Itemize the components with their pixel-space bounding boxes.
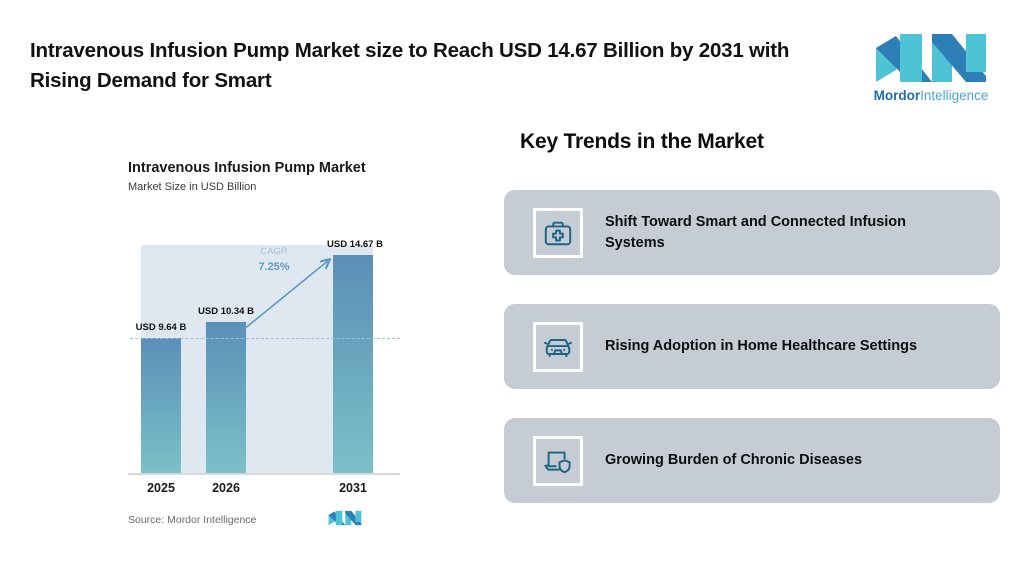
bar-label-2025: USD 9.64 B [121,322,201,333]
cagr-value: 7.25% [248,261,300,273]
bar-label-2031: USD 14.67 B [313,239,397,250]
medical-kit-icon [543,218,573,248]
chart-source: Source: Mordor Intelligence [128,514,256,526]
x-tick-2031: 2031 [323,481,383,495]
trend-card-label: Growing Burden of Chronic Diseases [605,450,862,471]
laptop-shield-icon [543,446,573,476]
trend-card[interactable]: Shift Toward Smart and Connected Infusio… [504,190,1000,275]
cagr-label: CAGR [248,246,300,257]
page-header: Intravenous Infusion Pump Market size to… [0,0,1024,122]
chart-plot-area: CAGR 7.25% USD 9.64 B USD 10.34 B USD 14… [110,150,410,550]
market-size-chart: Intravenous Infusion Pump Market Market … [110,150,410,550]
trend-card-label: Rising Adoption in Home Healthcare Setti… [605,336,917,357]
logo-name-bold: Mordor [874,88,921,103]
trend-card[interactable]: Growing Burden of Chronic Diseases [504,418,1000,503]
trend-card-label: Shift Toward Smart and Connected Infusio… [605,212,965,254]
trend-icon-box [533,322,583,372]
source-mordor-mark-icon [328,508,362,528]
trend-card[interactable]: Rising Adoption in Home Healthcare Setti… [504,304,1000,389]
x-tick-2025: 2025 [131,481,191,495]
mordor-logo-text: MordorIntelligence [866,88,996,103]
trend-icon-box [533,436,583,486]
page-title: Intravenous Infusion Pump Market size to… [30,36,840,96]
x-tick-2026: 2026 [196,481,256,495]
key-trends-title: Key Trends in the Market [520,130,764,154]
chart-x-axis [128,473,400,475]
bar-label-2026: USD 10.34 B [184,306,268,317]
trend-icon-box [533,208,583,258]
car-front-icon [543,332,573,362]
trend-card-list: Shift Toward Smart and Connected Infusio… [504,190,1000,532]
logo-name-light: Intelligence [920,88,988,103]
mordor-m-mark-icon [874,32,988,84]
mordor-intelligence-logo: MordorIntelligence [866,32,996,114]
